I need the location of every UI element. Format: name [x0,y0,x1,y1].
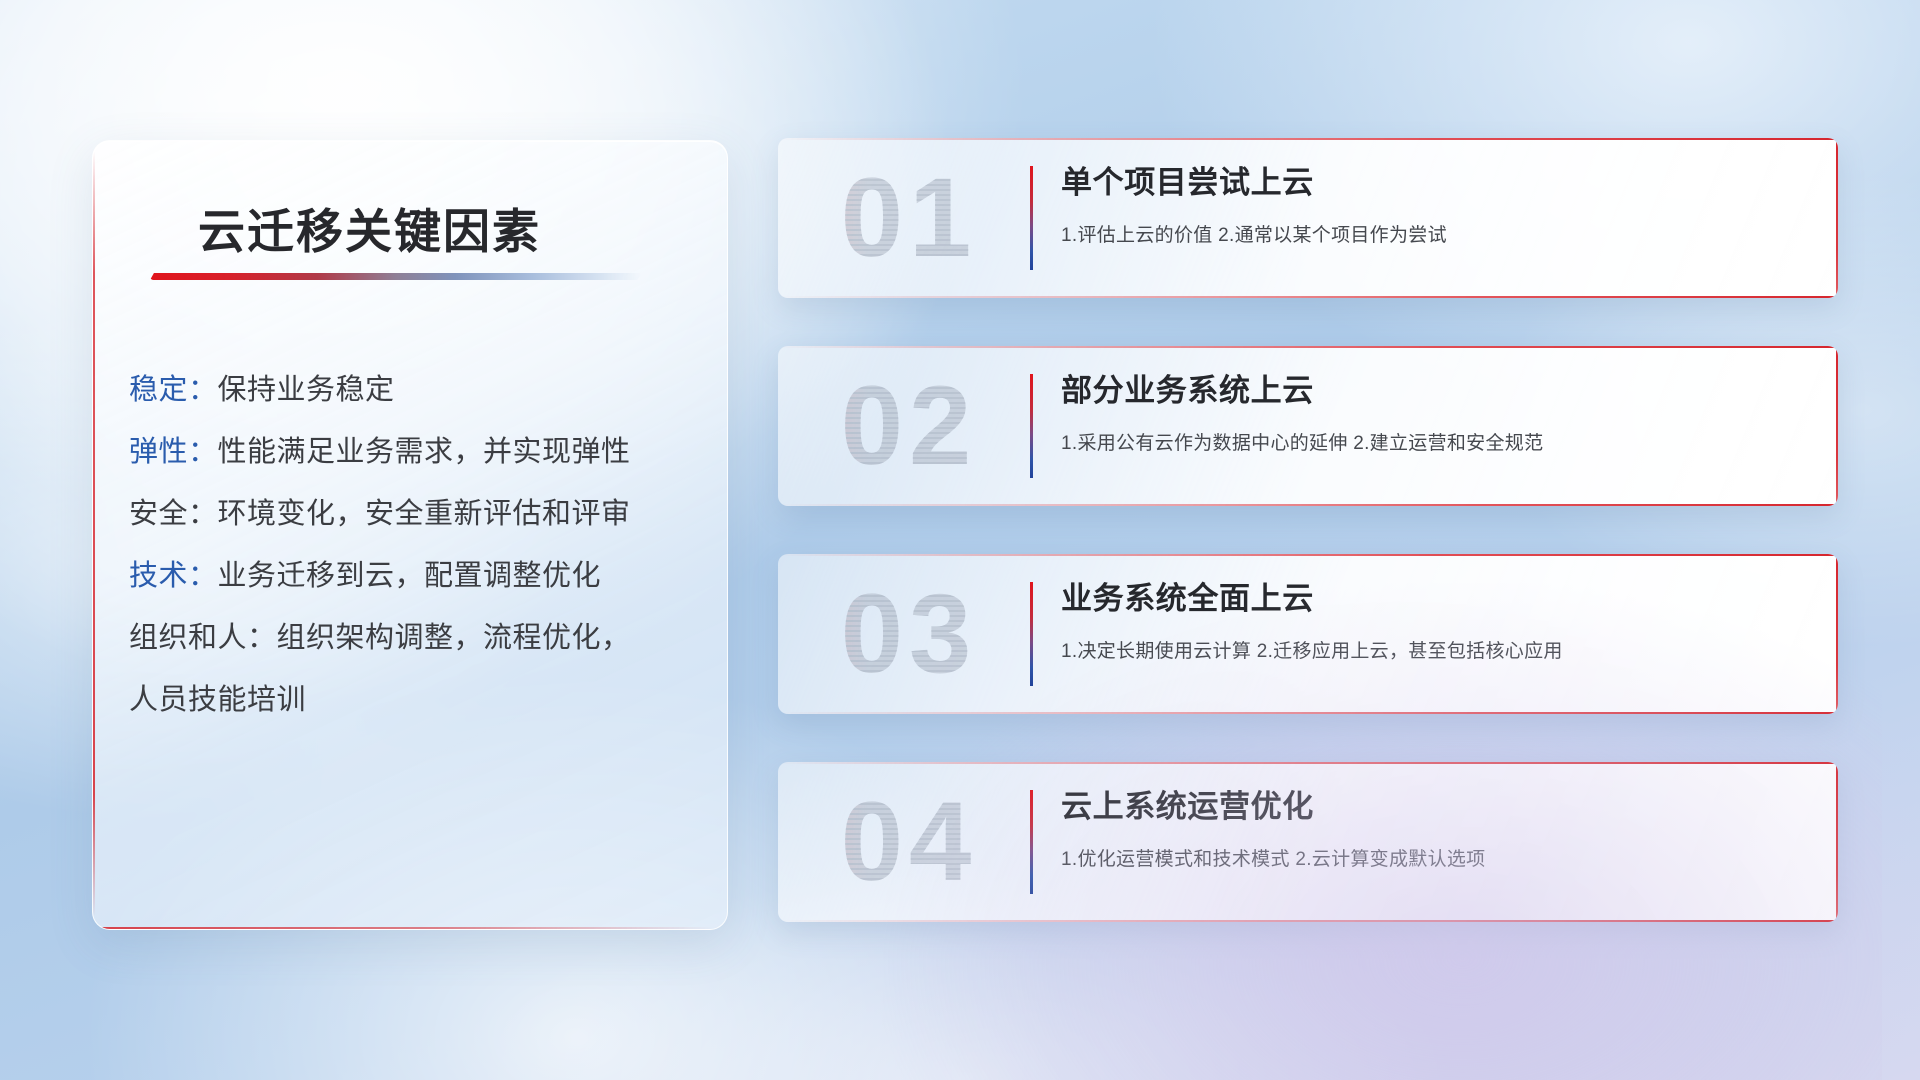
step-title: 云上系统运营优化 [1061,788,1808,827]
card-right-accent [1836,346,1838,506]
card-top-accent [778,762,1838,764]
key-factors-panel: 云迁移关键因素 稳定：保持业务稳定 弹性：性能满足业务需求，并实现弹性 安全：环… [92,140,728,930]
step-title: 部分业务系统上云 [1061,372,1808,411]
factor-row: 稳定：保持业务稳定 [129,359,705,421]
factor-label: 技术： [129,560,218,592]
card-bottom-accent [778,296,1838,298]
factor-label: 稳定： [129,374,218,406]
card-bottom-accent [778,920,1838,922]
step-number: 04 [804,768,1014,916]
slide-canvas: 云迁移关键因素 稳定：保持业务稳定 弹性：性能满足业务需求，并实现弹性 安全：环… [0,0,1920,1080]
factor-text: 组织架构调整，流程优化， [277,622,631,654]
step-divider-bar [1030,790,1033,894]
panel-left-accent-edge [93,151,95,917]
panel-bottom-accent-edge [101,927,713,929]
step-number: 03 [804,560,1014,708]
step-subtitle: 1.决定长期使用云计算 2.迁移应用上云，甚至包括核心应用 [1061,636,1808,663]
step-divider-bar [1030,166,1033,270]
card-bottom-accent [778,712,1838,714]
step-card-list: 01 单个项目尝试上云 1.评估上云的价值 2.通常以某个项目作为尝试 02 部… [778,138,1838,970]
step-card[interactable]: 03 业务系统全面上云 1.决定长期使用云计算 2.迁移应用上云，甚至包括核心应… [778,554,1838,714]
title-underline-gradient [150,273,642,280]
card-right-accent [1836,138,1838,298]
step-subtitle: 1.评估上云的价值 2.通常以某个项目作为尝试 [1061,220,1808,247]
factor-row: 人员技能培训 [129,669,705,731]
step-number: 01 [804,144,1014,292]
step-body: 业务系统全面上云 1.决定长期使用云计算 2.迁移应用上云，甚至包括核心应用 [1061,580,1808,663]
step-card[interactable]: 01 单个项目尝试上云 1.评估上云的价值 2.通常以某个项目作为尝试 [778,138,1838,298]
factor-text: 性能满足业务需求，并实现弹性 [218,436,631,468]
factor-row: 技术：业务迁移到云，配置调整优化 [129,545,705,607]
factor-label: 组织和人： [129,622,277,654]
factor-row: 弹性：性能满足业务需求，并实现弹性 [129,421,705,483]
factor-list: 稳定：保持业务稳定 弹性：性能满足业务需求，并实现弹性 安全：环境变化，安全重新… [129,359,705,731]
factor-row: 安全：环境变化，安全重新评估和评审 [129,483,705,545]
step-body: 部分业务系统上云 1.采用公有云作为数据中心的延伸 2.建立运营和安全规范 [1061,372,1808,455]
step-card[interactable]: 04 云上系统运营优化 1.优化运营模式和技术模式 2.云计算变成默认选项 [778,762,1838,922]
card-top-accent [778,346,1838,348]
step-body: 单个项目尝试上云 1.评估上云的价值 2.通常以某个项目作为尝试 [1061,164,1808,247]
step-body: 云上系统运营优化 1.优化运营模式和技术模式 2.云计算变成默认选项 [1061,788,1808,871]
card-top-accent [778,138,1838,140]
step-subtitle: 1.优化运营模式和技术模式 2.云计算变成默认选项 [1061,844,1808,871]
factor-text: 业务迁移到云，配置调整优化 [218,560,602,592]
page-title: 云迁移关键因素 [198,193,541,262]
step-title: 单个项目尝试上云 [1061,164,1808,203]
step-card[interactable]: 02 部分业务系统上云 1.采用公有云作为数据中心的延伸 2.建立运营和安全规范 [778,346,1838,506]
step-subtitle: 1.采用公有云作为数据中心的延伸 2.建立运营和安全规范 [1061,428,1808,455]
card-right-accent [1836,762,1838,922]
step-title: 业务系统全面上云 [1061,580,1808,619]
factor-row: 组织和人：组织架构调整，流程优化， [129,607,705,669]
factor-text: 环境变化，安全重新评估和评审 [218,498,631,530]
factor-label: 安全： [129,498,218,530]
factor-label: 弹性： [129,436,218,468]
factor-text: 人员技能培训 [129,684,306,716]
card-bottom-accent [778,504,1838,506]
factor-text: 保持业务稳定 [218,374,395,406]
card-right-accent [1836,554,1838,714]
card-top-accent [778,554,1838,556]
step-number: 02 [804,352,1014,500]
step-divider-bar [1030,374,1033,478]
step-divider-bar [1030,582,1033,686]
